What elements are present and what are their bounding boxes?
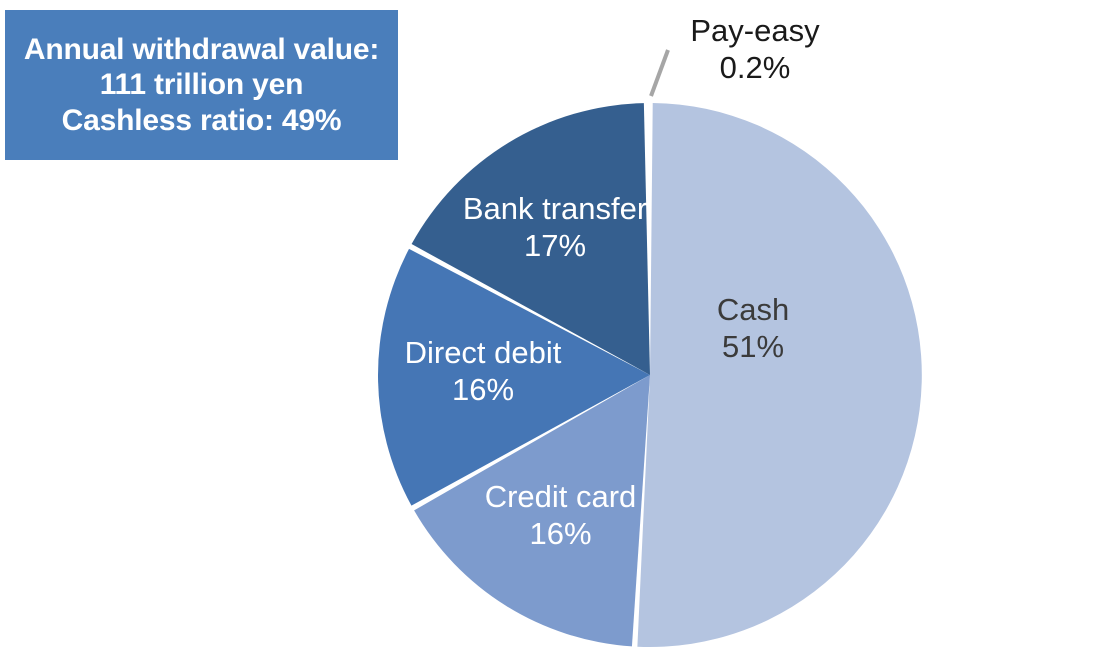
pie-slice-cash xyxy=(637,103,921,647)
slice-label-credit-card: Credit card 16% xyxy=(463,478,658,552)
slice-label-direct-debit-name: Direct debit xyxy=(383,334,583,371)
slice-label-pay-easy-name: Pay-easy xyxy=(650,12,860,49)
slice-label-credit-card-name: Credit card xyxy=(463,478,658,515)
slice-label-credit-card-value: 16% xyxy=(463,515,658,552)
slice-label-cash-value: 51% xyxy=(663,328,843,365)
slice-label-cash-name: Cash xyxy=(663,291,843,328)
slice-label-bank-transfer-name: Bank transfer xyxy=(450,190,660,227)
slice-label-cash: Cash 51% xyxy=(663,291,843,365)
pie-chart-figure: Annual withdrawal value: 111 trillion ye… xyxy=(0,0,1120,668)
slice-label-pay-easy: Pay-easy 0.2% xyxy=(650,12,860,86)
slice-label-bank-transfer-value: 17% xyxy=(450,227,660,264)
slice-label-direct-debit: Direct debit 16% xyxy=(383,334,583,408)
slice-label-bank-transfer: Bank transfer 17% xyxy=(450,190,660,264)
slice-label-direct-debit-value: 16% xyxy=(383,371,583,408)
slice-label-pay-easy-value: 0.2% xyxy=(650,49,860,86)
